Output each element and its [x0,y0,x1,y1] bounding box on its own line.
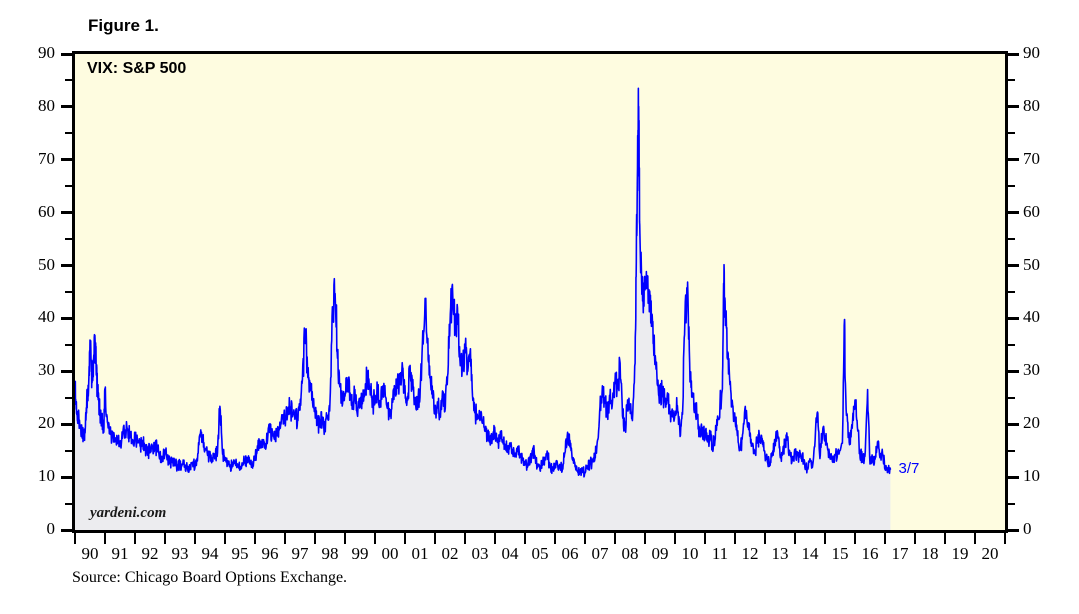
x-axis-label: 16 [853,544,887,564]
y-tick-minor-right [1008,450,1015,452]
x-tick [884,533,886,544]
y-tick-major-left [61,105,72,108]
x-tick [314,533,316,544]
vix-series-svg [75,54,1005,530]
y-tick-major-left [61,476,72,479]
y-tick-major-right [1008,105,1019,108]
x-tick [764,533,766,544]
y-axis-label-left: 20 [15,413,55,433]
x-tick [254,533,256,544]
y-axis-label-left: 50 [15,255,55,275]
y-tick-major-left [61,211,72,214]
x-axis-label: 11 [703,544,737,564]
x-axis-label: 20 [973,544,1007,564]
y-tick-major-right [1008,476,1019,479]
x-tick [164,533,166,544]
y-axis-label-right: 10 [1023,466,1063,486]
x-tick [104,533,106,544]
y-axis-label-left: 10 [15,466,55,486]
x-axis-label: 00 [373,544,407,564]
x-axis-label: 96 [253,544,287,564]
y-axis-label-right: 40 [1023,307,1063,327]
x-axis-label: 01 [403,544,437,564]
y-axis-label-right: 80 [1023,96,1063,116]
y-tick-major-left [61,53,72,56]
x-axis-label: 07 [583,544,617,564]
x-tick [584,533,586,544]
x-tick [434,533,436,544]
y-tick-major-right [1008,317,1019,320]
y-tick-major-left [61,423,72,426]
x-tick [644,533,646,544]
x-axis-label: 05 [523,544,557,564]
x-tick [374,533,376,544]
x-tick [404,533,406,544]
y-tick-major-right [1008,423,1019,426]
x-tick [824,533,826,544]
y-tick-major-right [1008,529,1019,532]
x-tick [524,533,526,544]
x-axis-label: 18 [913,544,947,564]
y-tick-minor-right [1008,79,1015,81]
x-tick [74,533,76,544]
x-tick [734,533,736,544]
chart-panel-label: VIX: S&P 500 [87,60,186,78]
x-axis-label: 13 [763,544,797,564]
y-tick-minor-right [1008,291,1015,293]
y-tick-minor-right [1008,344,1015,346]
x-tick [614,533,616,544]
y-axis-label-left: 90 [15,43,55,63]
y-tick-major-right [1008,158,1019,161]
figure-container: Figure 1. VIX: S&P 500 yardeni.com 3/7 0… [0,0,1079,614]
x-tick [344,533,346,544]
y-tick-minor-left [65,185,72,187]
y-axis-label-right: 20 [1023,413,1063,433]
y-axis-label-left: 30 [15,360,55,380]
x-axis-label: 06 [553,544,587,564]
chart-plot-inner [75,54,1005,530]
x-tick [914,533,916,544]
x-tick [194,533,196,544]
y-tick-minor-left [65,291,72,293]
x-axis-label: 15 [823,544,857,564]
y-tick-minor-left [65,238,72,240]
y-tick-minor-left [65,132,72,134]
y-tick-minor-left [65,79,72,81]
chart-watermark: yardeni.com [90,505,166,522]
x-tick [134,533,136,544]
x-axis-label: 19 [943,544,977,564]
x-axis-label: 12 [733,544,767,564]
x-tick [794,533,796,544]
y-tick-minor-right [1008,503,1015,505]
x-axis-label: 95 [223,544,257,564]
x-axis-label: 10 [673,544,707,564]
y-axis-label-right: 60 [1023,202,1063,222]
x-axis-label: 14 [793,544,827,564]
x-tick [284,533,286,544]
x-axis-label: 03 [463,544,497,564]
y-tick-minor-right [1008,397,1015,399]
y-tick-minor-right [1008,132,1015,134]
source-note: Source: Chicago Board Options Exchange. [72,569,347,587]
y-tick-minor-left [65,344,72,346]
x-axis-label: 93 [163,544,197,564]
y-tick-minor-left [65,450,72,452]
series-end-annotation: 3/7 [899,460,920,477]
y-tick-major-right [1008,53,1019,56]
y-tick-major-left [61,529,72,532]
chart-plot-area: VIX: S&P 500 yardeni.com 3/7 [72,51,1008,533]
figure-caption: Figure 1. [88,16,159,36]
y-axis-label-right: 50 [1023,255,1063,275]
x-tick [704,533,706,544]
y-tick-major-left [61,317,72,320]
y-tick-major-left [61,158,72,161]
y-tick-major-left [61,370,72,373]
x-tick [944,533,946,544]
x-axis-label: 97 [283,544,317,564]
x-tick [494,533,496,544]
x-axis-label: 90 [73,544,107,564]
y-axis-label-left: 0 [15,519,55,539]
y-tick-major-right [1008,264,1019,267]
y-tick-minor-left [65,503,72,505]
y-axis-label-left: 40 [15,307,55,327]
x-axis-label: 91 [103,544,137,564]
x-tick [224,533,226,544]
x-axis-label: 98 [313,544,347,564]
y-tick-minor-left [65,397,72,399]
x-axis-label: 92 [133,544,167,564]
x-tick [974,533,976,544]
x-tick [554,533,556,544]
y-axis-label-right: 90 [1023,43,1063,63]
y-tick-major-right [1008,370,1019,373]
y-axis-label-left: 70 [15,149,55,169]
y-axis-label-right: 70 [1023,149,1063,169]
x-axis-label: 08 [613,544,647,564]
x-axis-label: 94 [193,544,227,564]
y-tick-minor-right [1008,238,1015,240]
y-axis-label-left: 60 [15,202,55,222]
x-axis-label: 99 [343,544,377,564]
vix-line [75,88,890,476]
x-tick [854,533,856,544]
x-axis-label: 09 [643,544,677,564]
y-axis-label-right: 0 [1023,519,1063,539]
x-tick [1004,533,1006,544]
y-tick-major-left [61,264,72,267]
y-axis-label-right: 30 [1023,360,1063,380]
x-axis-label: 02 [433,544,467,564]
y-axis-label-left: 80 [15,96,55,116]
x-tick [674,533,676,544]
y-tick-major-right [1008,211,1019,214]
x-tick [464,533,466,544]
x-axis-label: 17 [883,544,917,564]
y-tick-minor-right [1008,185,1015,187]
x-axis-label: 04 [493,544,527,564]
